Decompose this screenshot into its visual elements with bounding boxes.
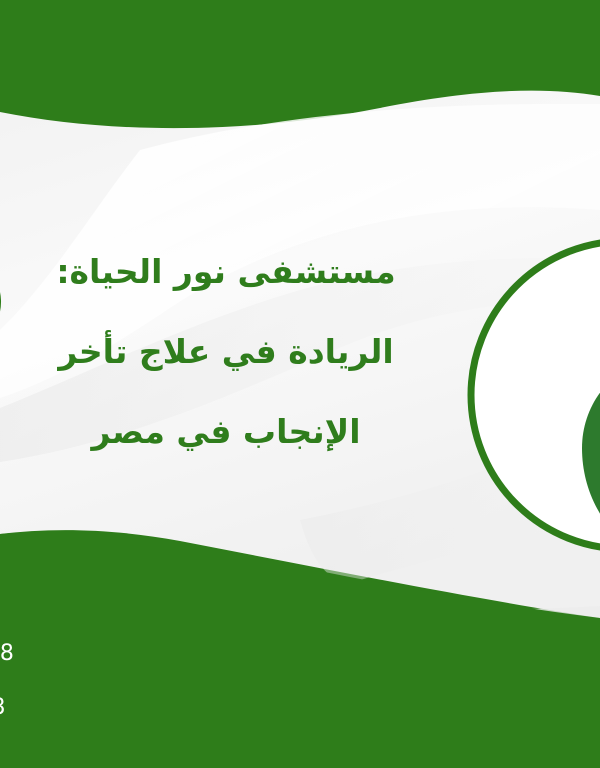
doctor-subtitle: مستش (0, 470, 54, 496)
hospital-logo-emblem (466, 236, 600, 554)
contact-phone-primary[interactable]: -780-8088 (0, 640, 14, 668)
contact-block: ct Us -780-8088 990-7768 (0, 572, 14, 722)
logo-disc (471, 241, 600, 549)
logo-svg (466, 236, 600, 554)
contact-phone-secondary[interactable]: 990-7768 (0, 694, 14, 722)
doctor-name: أ.د. (0, 424, 54, 470)
doctor-credit-block: أ.د. مستش (0, 424, 54, 496)
contact-us-title: ct Us (0, 572, 14, 614)
hospital-promo-banner: مستشفى نور الحياة: الريادة في علاج تأخر … (0, 0, 600, 768)
